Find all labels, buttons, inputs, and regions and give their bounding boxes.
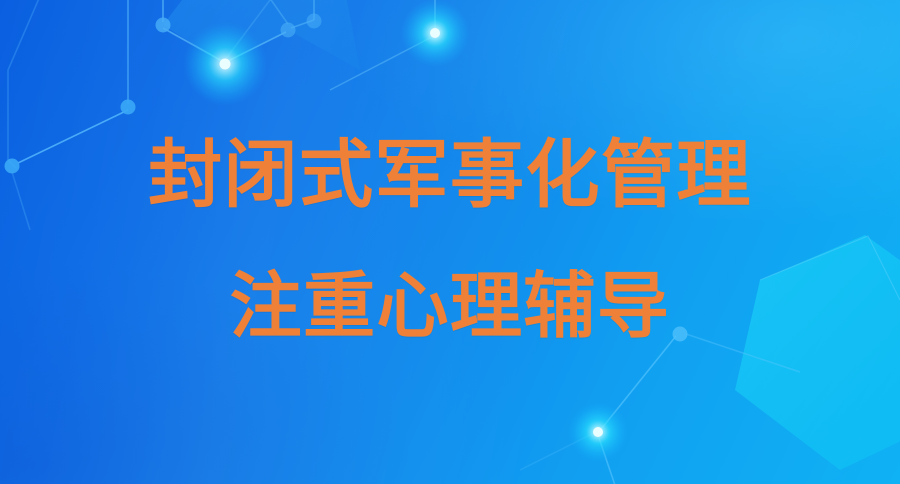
headline-line-1: 封闭式军事化管理 [148,138,752,212]
promo-banner: 封闭式军事化管理 注重心理辅导 [0,0,900,484]
headline-block: 封闭式军事化管理 注重心理辅导 [0,0,900,484]
headline-line-2: 注重心理辅导 [230,270,671,342]
